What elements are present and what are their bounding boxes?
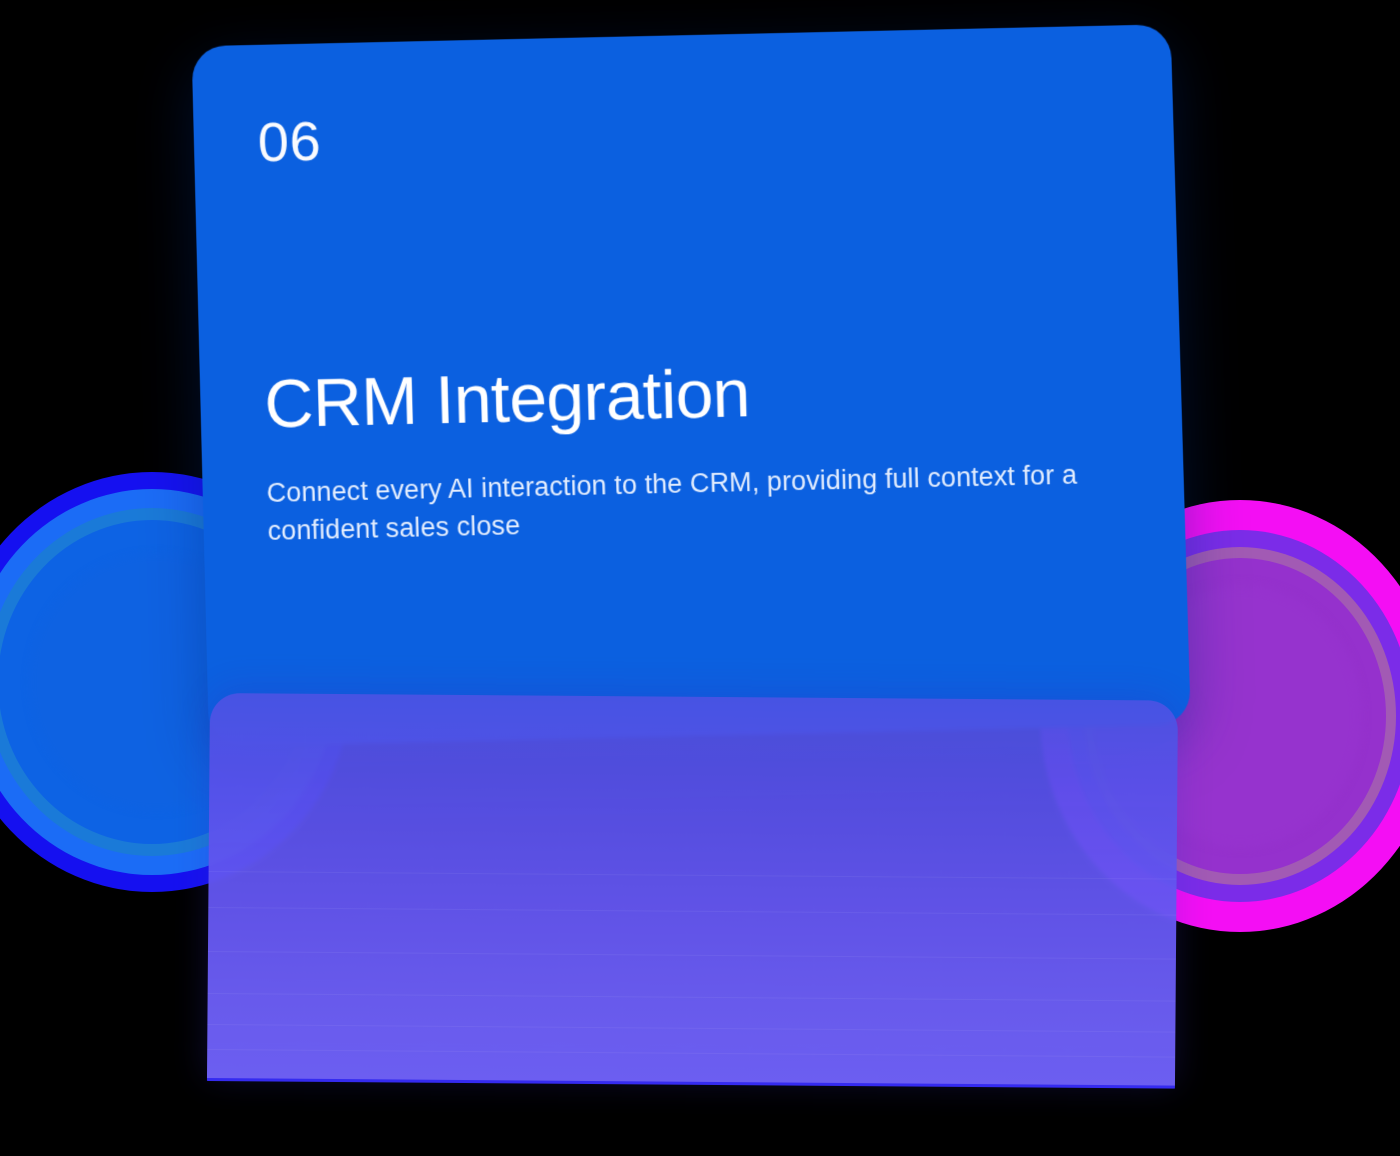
feature-card-text-block: CRM Integration Connect every AI interac… — [264, 349, 1122, 551]
foreground-glass-panel — [207, 693, 1178, 1089]
feature-card[interactable]: 06 CRM Integration Connect every AI inte… — [192, 24, 1191, 747]
panel-streak — [207, 1024, 1175, 1033]
panel-streak — [208, 907, 1176, 916]
feature-card-content: 06 CRM Integration Connect every AI inte… — [192, 24, 1191, 747]
panel-bottom-edge — [207, 1078, 1175, 1089]
card-step-number: 06 — [257, 95, 1110, 170]
panel-streak — [207, 1049, 1175, 1058]
panel-streak — [209, 871, 1177, 880]
scene-root: 06 CRM Integration Connect every AI inte… — [0, 0, 1400, 1156]
panel-streak — [208, 993, 1176, 1002]
card-description: Connect every AI interaction to the CRM,… — [266, 455, 1097, 550]
page-title: CRM Integration — [264, 349, 1119, 440]
panel-streak — [208, 951, 1176, 960]
